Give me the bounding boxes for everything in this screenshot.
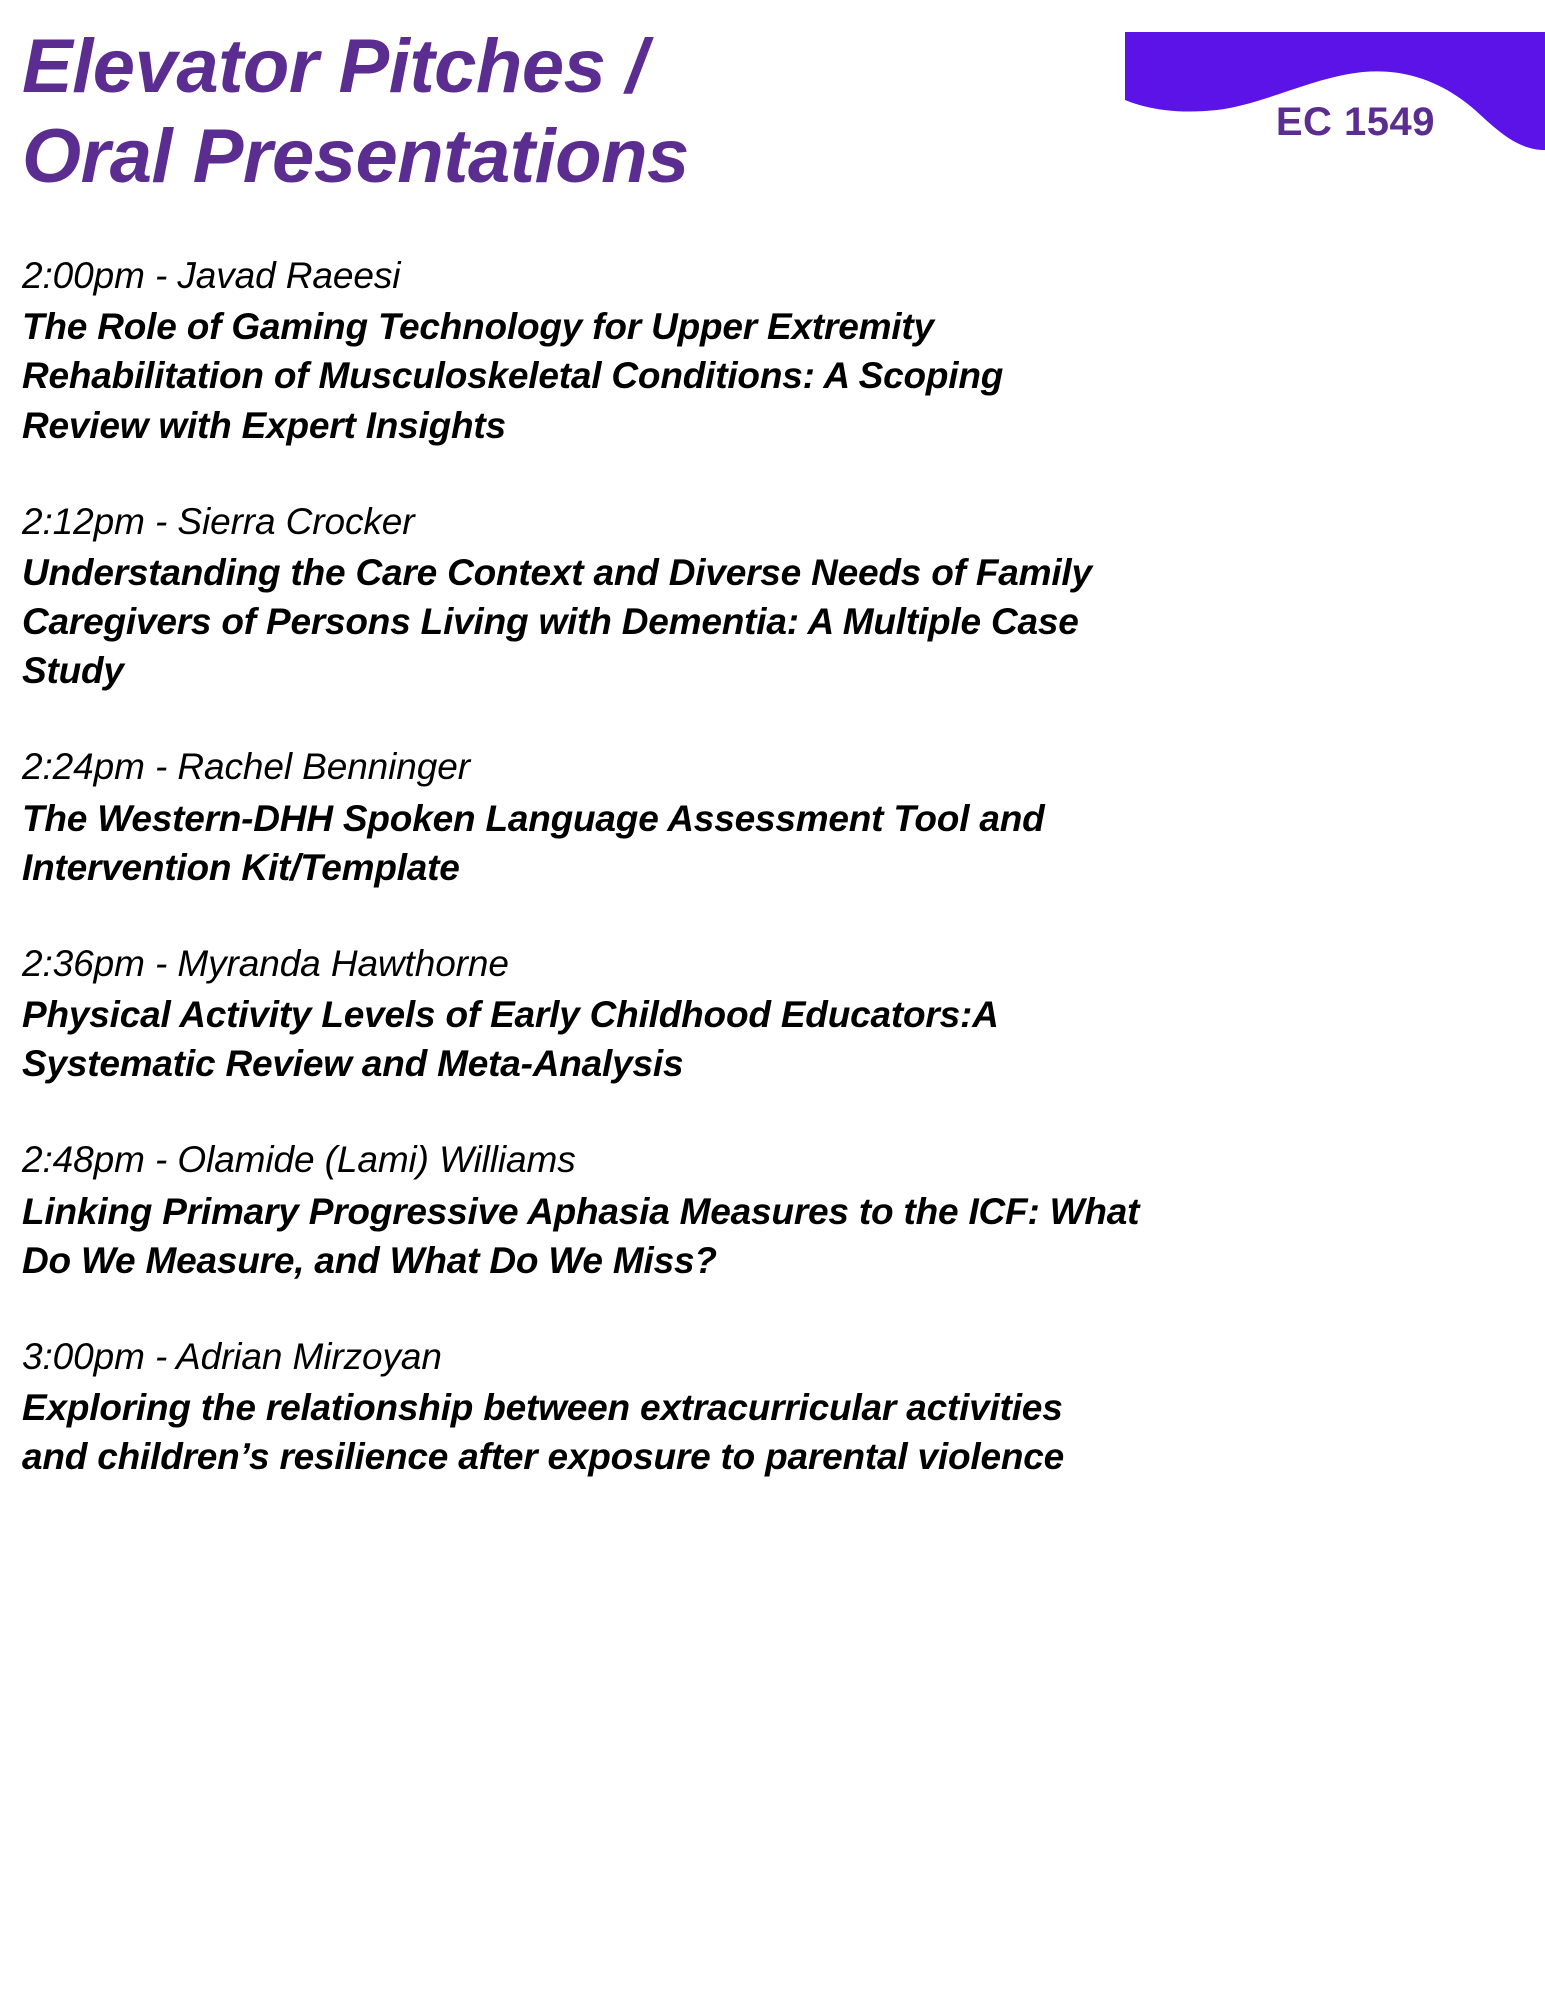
session-title: The Western-DHH Spoken Language Assessme… xyxy=(22,794,1522,892)
session-title-line: Review with Expert Insights xyxy=(22,401,1522,450)
session-title-line: Exploring the relationship between extra… xyxy=(22,1383,1522,1432)
room-code-label: EC 1549 xyxy=(1276,100,1435,145)
session-title: Linking Primary Progressive Aphasia Meas… xyxy=(22,1187,1522,1285)
page-title: Elevator Pitches / Oral Presentations xyxy=(22,22,922,201)
session-item: 3:00pm - Adrian Mirzoyan Exploring the r… xyxy=(22,1333,1522,1482)
page-title-line-1: Elevator Pitches / xyxy=(22,22,922,112)
session-title: Understanding the Care Context and Diver… xyxy=(22,548,1522,696)
session-speaker: 2:12pm - Sierra Crocker xyxy=(22,498,1522,546)
session-title-line: Systematic Review and Meta-Analysis xyxy=(22,1039,1522,1088)
session-title-line: Understanding the Care Context and Diver… xyxy=(22,548,1522,597)
session-item: 2:12pm - Sierra Crocker Understanding th… xyxy=(22,498,1522,696)
session-speaker: 2:36pm - Myranda Hawthorne xyxy=(22,940,1522,988)
session-title-line: Rehabilitation of Musculoskeletal Condit… xyxy=(22,351,1522,400)
session-title-line: Caregivers of Persons Living with Dement… xyxy=(22,597,1522,646)
session-speaker: 2:00pm - Javad Raeesi xyxy=(22,252,1522,300)
session-title: The Role of Gaming Technology for Upper … xyxy=(22,302,1522,450)
session-speaker: 2:24pm - Rachel Benninger xyxy=(22,743,1522,791)
session-title-line: The Western-DHH Spoken Language Assessme… xyxy=(22,794,1522,843)
poster-header: Elevator Pitches / Oral Presentations EC… xyxy=(0,0,1545,250)
session-title-line: Do We Measure, and What Do We Miss? xyxy=(22,1236,1522,1285)
session-title-line: Intervention Kit/Template xyxy=(22,843,1522,892)
session-title-line: Study xyxy=(22,646,1522,695)
session-title-line: The Role of Gaming Technology for Upper … xyxy=(22,302,1522,351)
session-title-line: and children’s resilience after exposure… xyxy=(22,1432,1522,1481)
session-item: 2:48pm - Olamide (Lami) Williams Linking… xyxy=(22,1136,1522,1285)
session-title-line: Physical Activity Levels of Early Childh… xyxy=(22,990,1522,1039)
session-speaker: 2:48pm - Olamide (Lami) Williams xyxy=(22,1136,1522,1184)
page-title-line-2: Oral Presentations xyxy=(22,112,922,202)
session-title-line: Linking Primary Progressive Aphasia Meas… xyxy=(22,1187,1522,1236)
session-item: 2:24pm - Rachel Benninger The Western-DH… xyxy=(22,743,1522,892)
session-item: 2:00pm - Javad Raeesi The Role of Gaming… xyxy=(22,252,1522,450)
session-item: 2:36pm - Myranda Hawthorne Physical Acti… xyxy=(22,940,1522,1089)
session-speaker: 3:00pm - Adrian Mirzoyan xyxy=(22,1333,1522,1381)
session-title: Exploring the relationship between extra… xyxy=(22,1383,1522,1481)
session-title: Physical Activity Levels of Early Childh… xyxy=(22,990,1522,1088)
session-list: 2:00pm - Javad Raeesi The Role of Gaming… xyxy=(22,252,1522,1529)
